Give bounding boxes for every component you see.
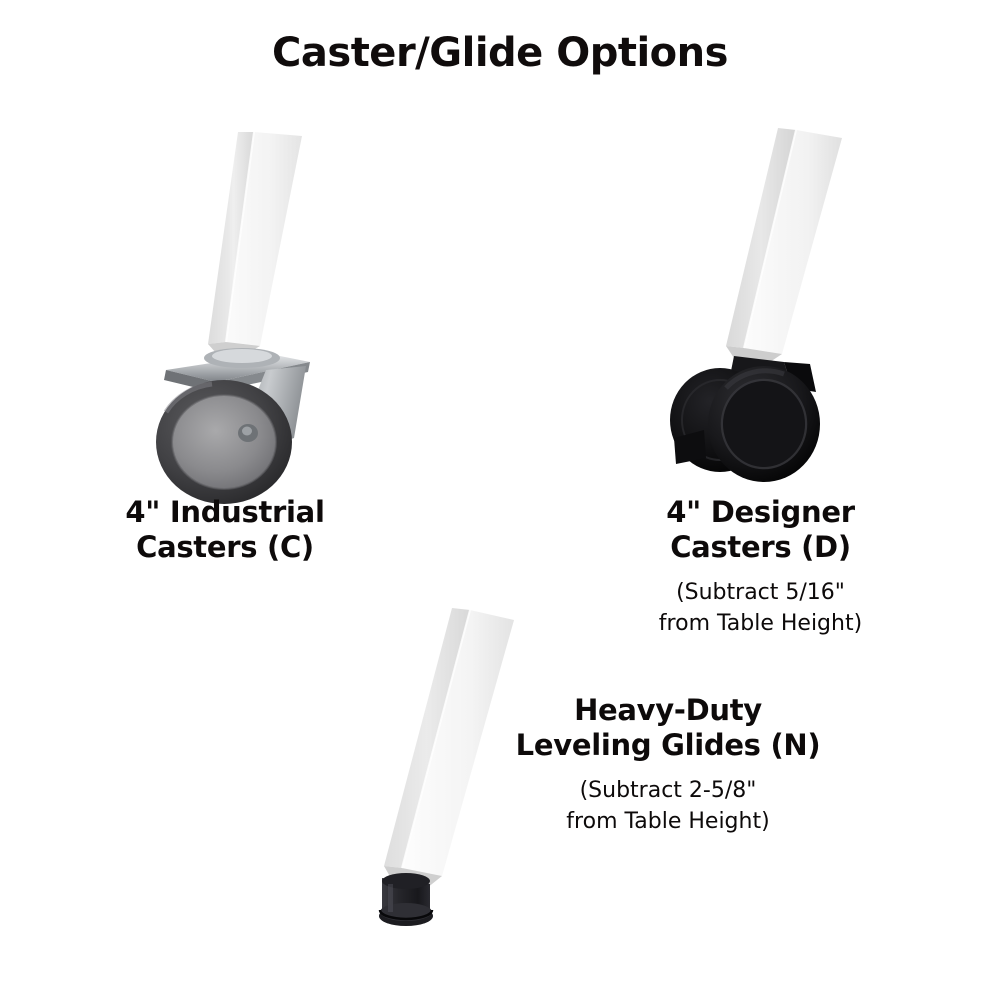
caption-line-1: Heavy-Duty: [488, 693, 848, 728]
caption-note: (Subtract 2-5/8" from Table Height): [488, 775, 848, 839]
swivel-raceway-highlight: [212, 349, 272, 363]
illustration-designer-casters: [660, 120, 870, 490]
illustration-industrial-casters: [120, 120, 340, 490]
caption-line-2: Casters (C): [45, 530, 405, 565]
caption-note-line-1: (Subtract 5/16": [588, 577, 933, 609]
glide-sheen: [388, 884, 393, 912]
caption-designer-casters: 4" Designer Casters (D) (Subtract 5/16" …: [588, 495, 933, 640]
caption-line-1: 4" Industrial: [45, 495, 405, 530]
caption-line-1: 4" Designer: [588, 495, 933, 530]
caption-leveling-glides: Heavy-Duty Leveling Glides (N) (Subtract…: [488, 693, 848, 838]
page-title: Caster/Glide Options: [0, 30, 1000, 76]
caption-industrial-casters: 4" Industrial Casters (C): [45, 495, 405, 565]
caption-line-2: Casters (D): [588, 530, 933, 565]
caption-note-line-1: (Subtract 2-5/8": [488, 775, 848, 807]
industrial-caster-drawing: [120, 120, 340, 490]
caster-glide-options-diagram: Caster/Glide Options: [0, 0, 1000, 1000]
caption-line-2: Leveling Glides (N): [488, 728, 848, 763]
designer-caster-drawing: [660, 120, 870, 490]
caster-front-wheel-face: [723, 381, 805, 467]
caption-note-line-2: from Table Height): [588, 608, 933, 640]
caption-note-line-2: from Table Height): [488, 806, 848, 838]
caster-axle-highlight: [242, 427, 252, 436]
caption-note: (Subtract 5/16" from Table Height): [588, 577, 933, 641]
